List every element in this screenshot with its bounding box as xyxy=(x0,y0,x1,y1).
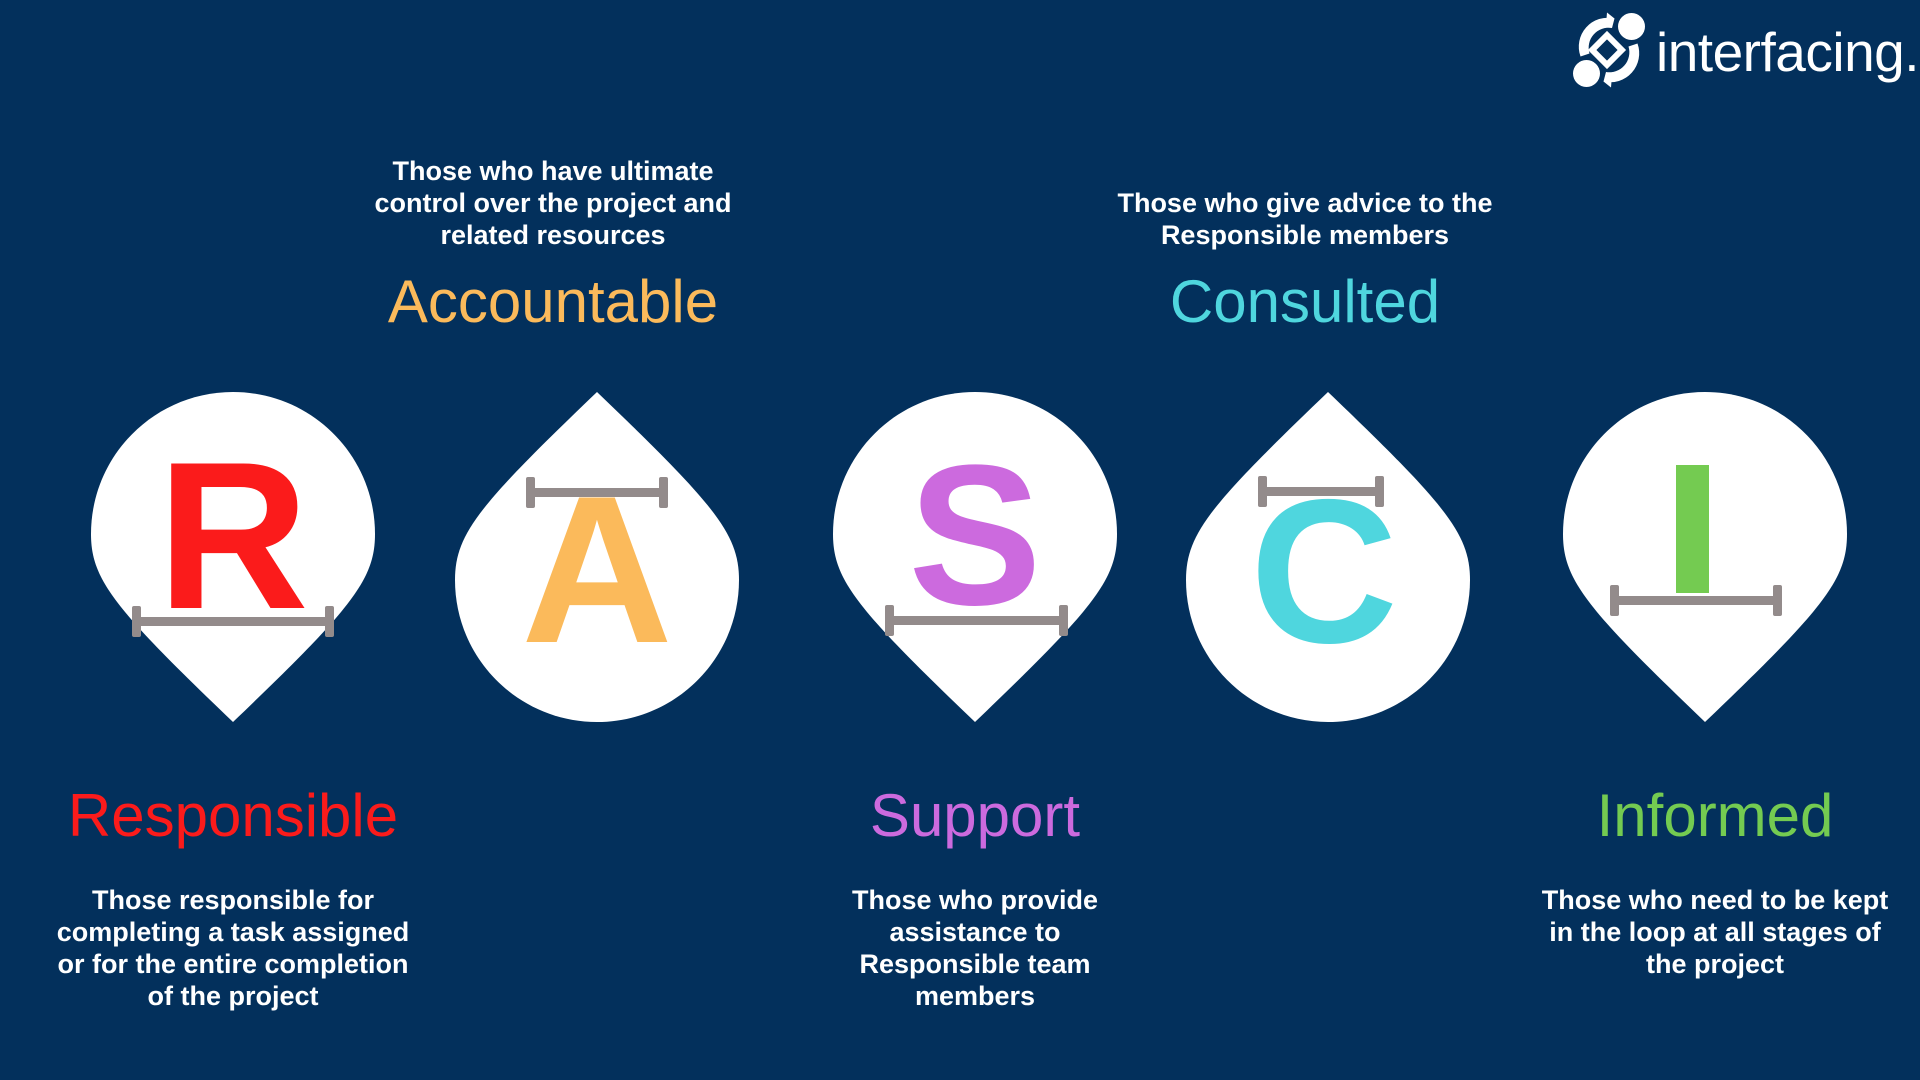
pin-consulted[interactable]: C xyxy=(1186,392,1470,722)
brand-logo: interfacing. xyxy=(1568,10,1908,94)
accountable-title: Accountable xyxy=(368,272,738,332)
brand-name: interfacing. xyxy=(1656,25,1919,80)
informed-description: Those who need to be kept in the loop at… xyxy=(1540,884,1890,980)
accountable-description: Those who have ultimate control over the… xyxy=(368,155,738,251)
pin-support[interactable]: S xyxy=(833,392,1117,722)
support-title: Support xyxy=(790,786,1160,846)
consulted-description: Those who give advice to the Responsible… xyxy=(1105,187,1505,251)
interfacing-swirl-logo-icon xyxy=(1568,10,1650,95)
pin-letter-a: A xyxy=(521,452,673,687)
pin-letter-s: S xyxy=(908,424,1041,647)
support-description: Those who provide assistance to Responsi… xyxy=(820,884,1130,1013)
rasci-infographic: interfacing. Those who have ultimate con… xyxy=(0,0,1920,1080)
informed-title: Informed xyxy=(1520,786,1910,846)
pin-letter-c: C xyxy=(1250,457,1398,686)
pin-accountable[interactable]: A xyxy=(455,392,739,722)
consulted-title: Consulted xyxy=(1105,272,1505,332)
pin-informed[interactable] xyxy=(1563,392,1847,722)
responsible-description: Those responsible for completing a task … xyxy=(48,884,418,1013)
pin-responsible[interactable]: R xyxy=(91,392,375,722)
responsible-title: Responsible xyxy=(28,786,438,846)
pin-letter-i xyxy=(1676,465,1709,593)
